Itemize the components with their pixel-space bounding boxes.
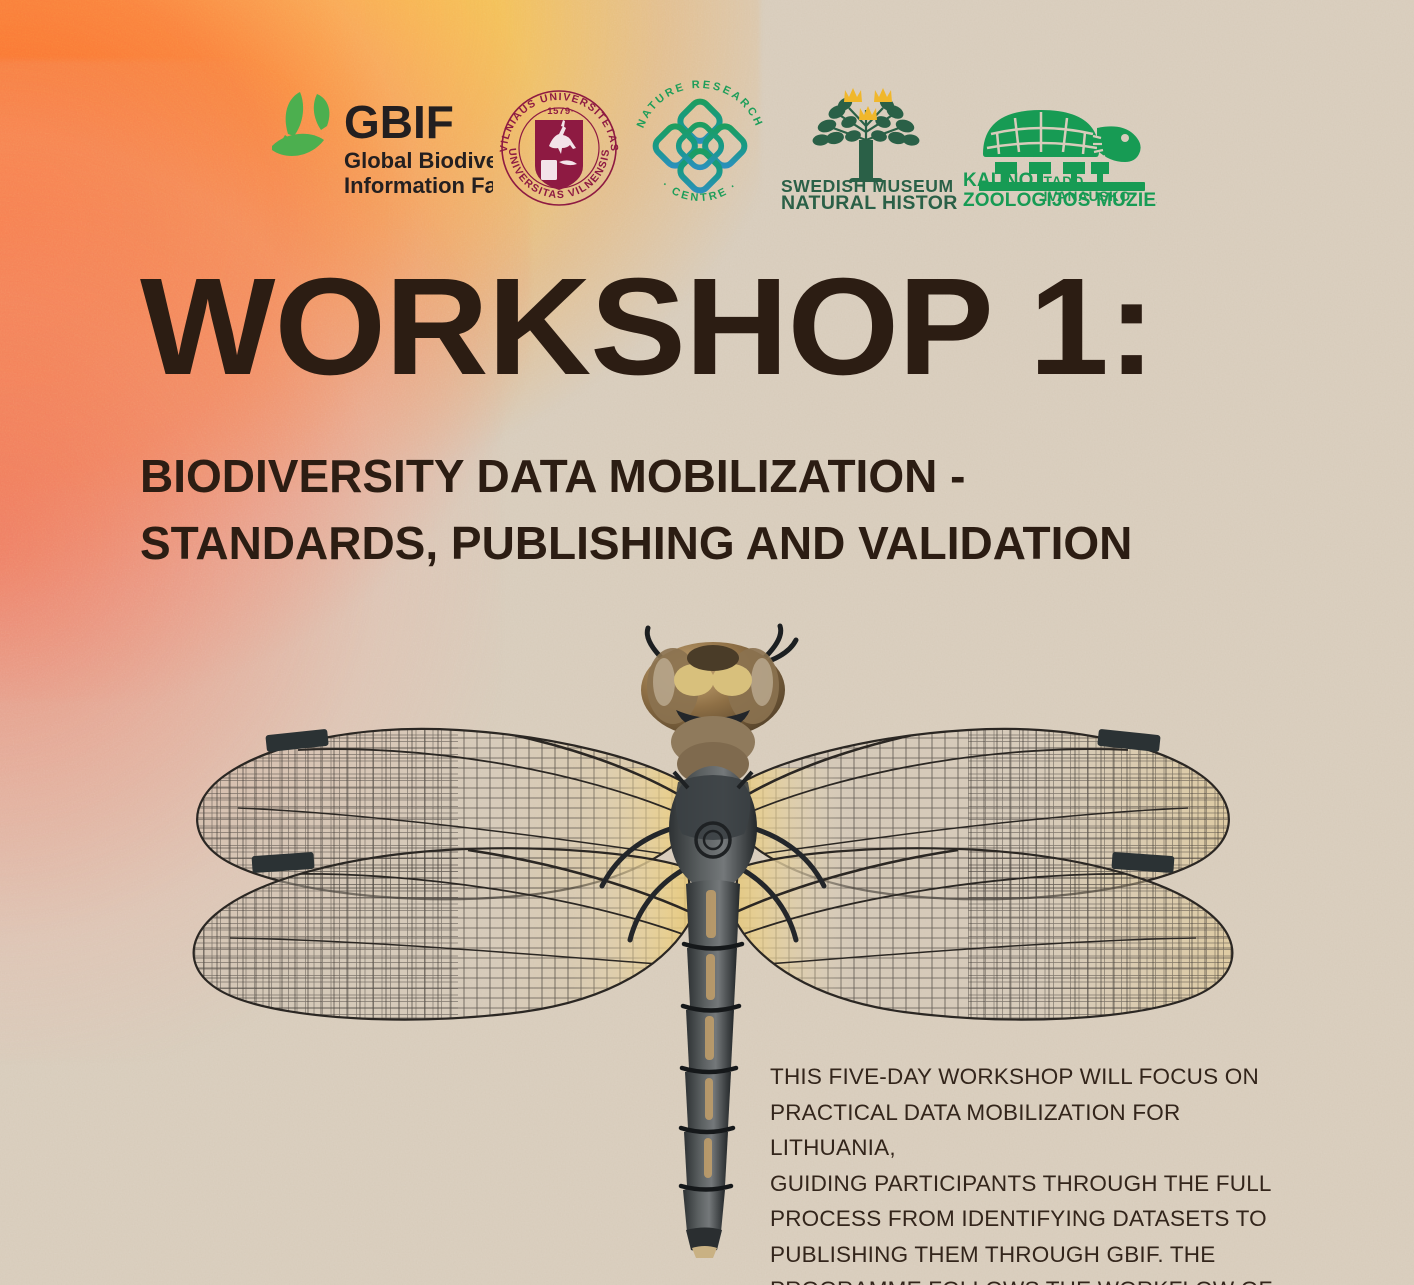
description-text: THIS FIVE-DAY WORKSHOP WILL FOCUS ON PRA… bbox=[770, 1059, 1300, 1285]
smnh-name-line2: NATURAL HISTORY bbox=[781, 192, 957, 210]
partner-logo-strip: GBIF Global Biodiversity Information Fac… bbox=[258, 78, 1188, 213]
tree-with-three-crowns-icon bbox=[812, 88, 920, 182]
head bbox=[641, 626, 796, 786]
page-subtitle: BIODIVERSITY DATA MOBILIZATION - STANDAR… bbox=[140, 443, 1340, 576]
interlocking-diamond-knot-icon bbox=[652, 98, 748, 194]
kauno-person-label: TADO IVANAUSKO bbox=[1044, 174, 1157, 204]
gbif-acronym: GBIF bbox=[344, 96, 454, 148]
vilnius-university-logo: VILNIAUS UNIVERSITETAS UNIVERSITAS VILNE… bbox=[493, 82, 625, 210]
description-line-3: LITHUANIA, bbox=[770, 1130, 1300, 1166]
gbif-tagline-line2: Information Facility bbox=[344, 173, 493, 198]
wing-lower-right bbox=[682, 828, 1248, 1038]
gbif-tagline-line1: Global Biodiversity bbox=[344, 148, 493, 173]
leaf-sprout-icon bbox=[272, 92, 329, 156]
kaunas-zoological-museum-logo: ZOOLOGIJOS MUZIEJUS KAUNO KAUNO TADO IVA… bbox=[957, 82, 1157, 210]
description-line-2: PRACTICAL DATA MOBILIZATION FOR bbox=[770, 1095, 1300, 1131]
description-line-7: PROGRAMME FOLLOWS THE WORKFLOW OF bbox=[770, 1272, 1300, 1285]
description-line-5: PROCESS FROM IDENTIFYING DATASETS TO bbox=[770, 1201, 1300, 1237]
abdomen bbox=[681, 880, 742, 1258]
thorax bbox=[669, 766, 757, 890]
swedish-museum-natural-history-logo: SWEDISH MUSEUM OF NATURAL HISTORY bbox=[775, 82, 957, 210]
kauno-city-label: KAUNO bbox=[963, 170, 1034, 192]
description-line-6: PUBLISHING THEM THROUGH GBIF. THE bbox=[770, 1237, 1300, 1273]
page-subtitle-line1: BIODIVERSITY DATA MOBILIZATION - bbox=[140, 443, 1340, 510]
page-subtitle-line2: STANDARDS, PUBLISHING AND VALIDATION bbox=[140, 510, 1340, 577]
nature-research-centre-logo: NATURE RESEARCH · CENTRE · bbox=[625, 78, 775, 213]
gbif-logo: GBIF Global Biodiversity Information Fac… bbox=[258, 86, 493, 206]
knight-on-horseback-crest-icon bbox=[535, 120, 583, 190]
workshop-poster: GBIF Global Biodiversity Information Fac… bbox=[0, 0, 1414, 1285]
vu-foundation-year: ·1579· bbox=[543, 106, 574, 117]
description-line-1: THIS FIVE-DAY WORKSHOP WILL FOCUS ON bbox=[770, 1059, 1300, 1095]
page-title: WORKSHOP 1: bbox=[140, 258, 1367, 396]
wing-lower-left bbox=[178, 828, 744, 1038]
description-line-4: GUIDING PARTICIPANTS THROUGH THE FULL bbox=[770, 1166, 1300, 1202]
